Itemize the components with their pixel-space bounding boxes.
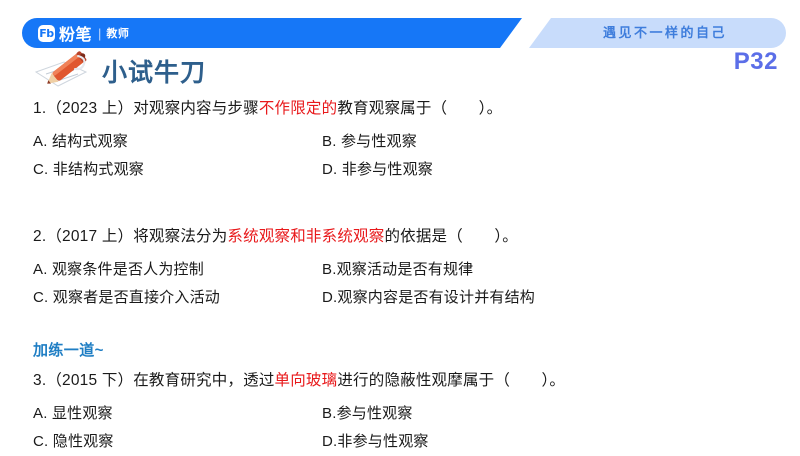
question-2-source: （2017 上）	[46, 228, 133, 245]
section-title: 小试牛刀	[102, 53, 206, 89]
option-c[interactable]: C. 非结构式观察	[33, 156, 322, 184]
question-3-options: A. 显性观察 B.参与性观察 C. 隐性观察 D.非参与性观察	[33, 400, 800, 456]
option-d[interactable]: D.非参与性观察	[322, 428, 800, 456]
question-1-number: 1.	[33, 100, 46, 117]
question-1-stem-after: 教育观察属于（ ）。	[337, 100, 502, 117]
brand-separator: |	[98, 26, 101, 41]
option-row: C. 隐性观察 D.非参与性观察	[33, 428, 800, 456]
option-d[interactable]: D.观察内容是否有设计并有结构	[322, 284, 800, 312]
question-3: 3.（2015 下）在教育研究中，透过单向玻璃进行的隐蔽性观摩属于（ ）。 A.…	[0, 368, 800, 456]
option-row: C. 观察者是否直接介入活动 D.观察内容是否有设计并有结构	[33, 284, 800, 312]
question-3-number: 3.	[33, 372, 46, 389]
option-row: A. 结构式观察 B. 参与性观察	[33, 128, 800, 156]
question-spacer	[0, 312, 800, 340]
option-b[interactable]: B. 参与性观察	[322, 128, 800, 156]
question-1-stem-before: 对观察内容与步骤	[133, 100, 259, 117]
option-a[interactable]: A. 观察条件是否人为控制	[33, 256, 322, 284]
question-3-source: （2015 下）	[46, 372, 133, 389]
question-1-source: （2023 上）	[46, 100, 133, 117]
option-c[interactable]: C. 观察者是否直接介入活动	[33, 284, 322, 312]
question-3-stem: 3.（2015 下）在教育研究中，透过单向玻璃进行的隐蔽性观摩属于（ ）。	[33, 368, 800, 394]
option-row: C. 非结构式观察 D. 非参与性观察	[33, 156, 800, 184]
question-spacer	[0, 184, 800, 224]
option-b[interactable]: B.观察活动是否有规律	[322, 256, 800, 284]
option-a[interactable]: A. 结构式观察	[33, 128, 322, 156]
header-slogan: 遇见不一样的自己	[560, 18, 770, 48]
question-2-stem-after: 的依据是（ ）。	[384, 228, 518, 245]
question-2-options: A. 观察条件是否人为控制 B.观察活动是否有规律 C. 观察者是否直接介入活动…	[33, 256, 800, 312]
question-2-stem-highlight: 系统观察和非系统观察	[227, 228, 384, 245]
page-number: P32	[734, 48, 778, 76]
question-2-stem-before: 将观察法分为	[133, 228, 227, 245]
extra-practice-label: 加练一道~	[0, 340, 800, 362]
question-3-stem-highlight: 单向玻璃	[275, 372, 338, 389]
option-c[interactable]: C. 隐性观察	[33, 428, 322, 456]
question-2: 2.（2017 上）将观察法分为系统观察和非系统观察的依据是（ ）。 A. 观察…	[0, 224, 800, 312]
fb-logo-icon: Fb	[38, 25, 55, 42]
question-1: 1.（2023 上）对观察内容与步骤不作限定的教育观察属于（ ）。 A. 结构式…	[0, 96, 800, 184]
question-2-number: 2.	[33, 228, 46, 245]
pencil-paper-icon	[30, 50, 100, 92]
question-1-stem-highlight: 不作限定的	[259, 100, 338, 117]
question-1-stem: 1.（2023 上）对观察内容与步骤不作限定的教育观察属于（ ）。	[33, 96, 800, 122]
section-title-row: 小试牛刀	[30, 50, 206, 92]
header-bar: Fb 粉笔 | 教师 遇见不一样的自己	[0, 18, 800, 48]
brand-logo: Fb 粉笔 | 教师	[38, 18, 129, 48]
question-3-stem-before: 在教育研究中，透过	[133, 372, 274, 389]
option-a[interactable]: A. 显性观察	[33, 400, 322, 428]
question-3-stem-after: 进行的隐蔽性观摩属于（ ）。	[337, 372, 565, 389]
option-row: A. 观察条件是否人为控制 B.观察活动是否有规律	[33, 256, 800, 284]
option-d[interactable]: D. 非参与性观察	[322, 156, 800, 184]
brand-subtitle: 教师	[106, 25, 129, 41]
brand-name: 粉笔	[59, 21, 92, 45]
questions-content: 1.（2023 上）对观察内容与步骤不作限定的教育观察属于（ ）。 A. 结构式…	[0, 96, 800, 456]
question-2-stem: 2.（2017 上）将观察法分为系统观察和非系统观察的依据是（ ）。	[33, 224, 800, 250]
option-row: A. 显性观察 B.参与性观察	[33, 400, 800, 428]
question-1-options: A. 结构式观察 B. 参与性观察 C. 非结构式观察 D. 非参与性观察	[33, 128, 800, 184]
option-b[interactable]: B.参与性观察	[322, 400, 800, 428]
